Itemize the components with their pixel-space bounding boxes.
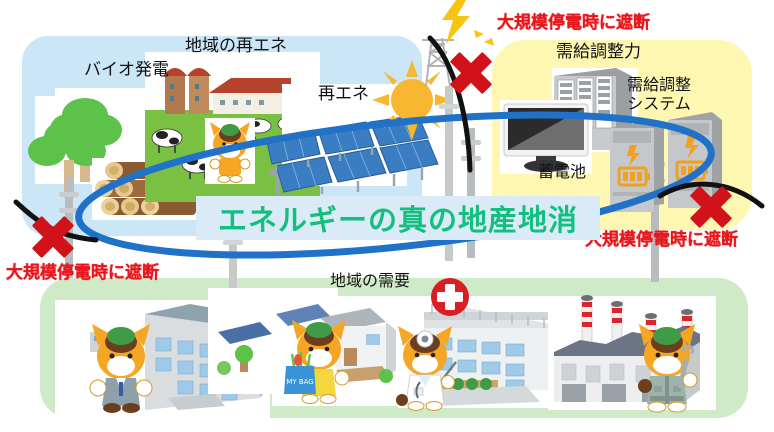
warning-right: 大規模停電時に遮断 xyxy=(585,225,738,250)
mascot-factory-worker xyxy=(632,320,702,412)
label-local-renewable: 地域の再エネ xyxy=(185,36,287,56)
utility-pole-icon xyxy=(222,232,244,292)
spark-icon xyxy=(474,26,496,48)
red-x-icon xyxy=(28,212,78,262)
battery-cabinet-left xyxy=(610,120,666,212)
lightning-bolt-icon xyxy=(436,0,476,46)
mascot-office-worker xyxy=(86,320,156,412)
warning-left: 大規模停電時に遮断 xyxy=(6,258,159,283)
red-cross-icon xyxy=(430,277,470,317)
label-adjustment-system: 需給調整 システム xyxy=(627,76,691,114)
infographic-canvas: MY BAG xyxy=(0,0,774,432)
red-x-icon xyxy=(446,48,496,98)
mascot-farmer xyxy=(206,120,254,182)
svg-text:MY BAG: MY BAG xyxy=(286,378,313,386)
label-storage-battery: 蓄電池 xyxy=(538,163,586,182)
main-banner-text: エネルギーの真の地産地消 xyxy=(218,197,578,239)
label-local-demand: 地域の需要 xyxy=(330,272,410,291)
label-adjustment-capacity: 需給調整力 xyxy=(556,42,641,62)
label-renewable: 再エネ xyxy=(318,84,369,104)
main-banner: エネルギーの真の地産地消 xyxy=(196,196,600,240)
mascot-doctor xyxy=(392,322,458,410)
warning-top: 大規模停電時に遮断 xyxy=(497,8,650,33)
label-bio-power: バイオ発電 xyxy=(84,60,169,80)
mascot-shopper: MY BAG xyxy=(286,316,352,404)
